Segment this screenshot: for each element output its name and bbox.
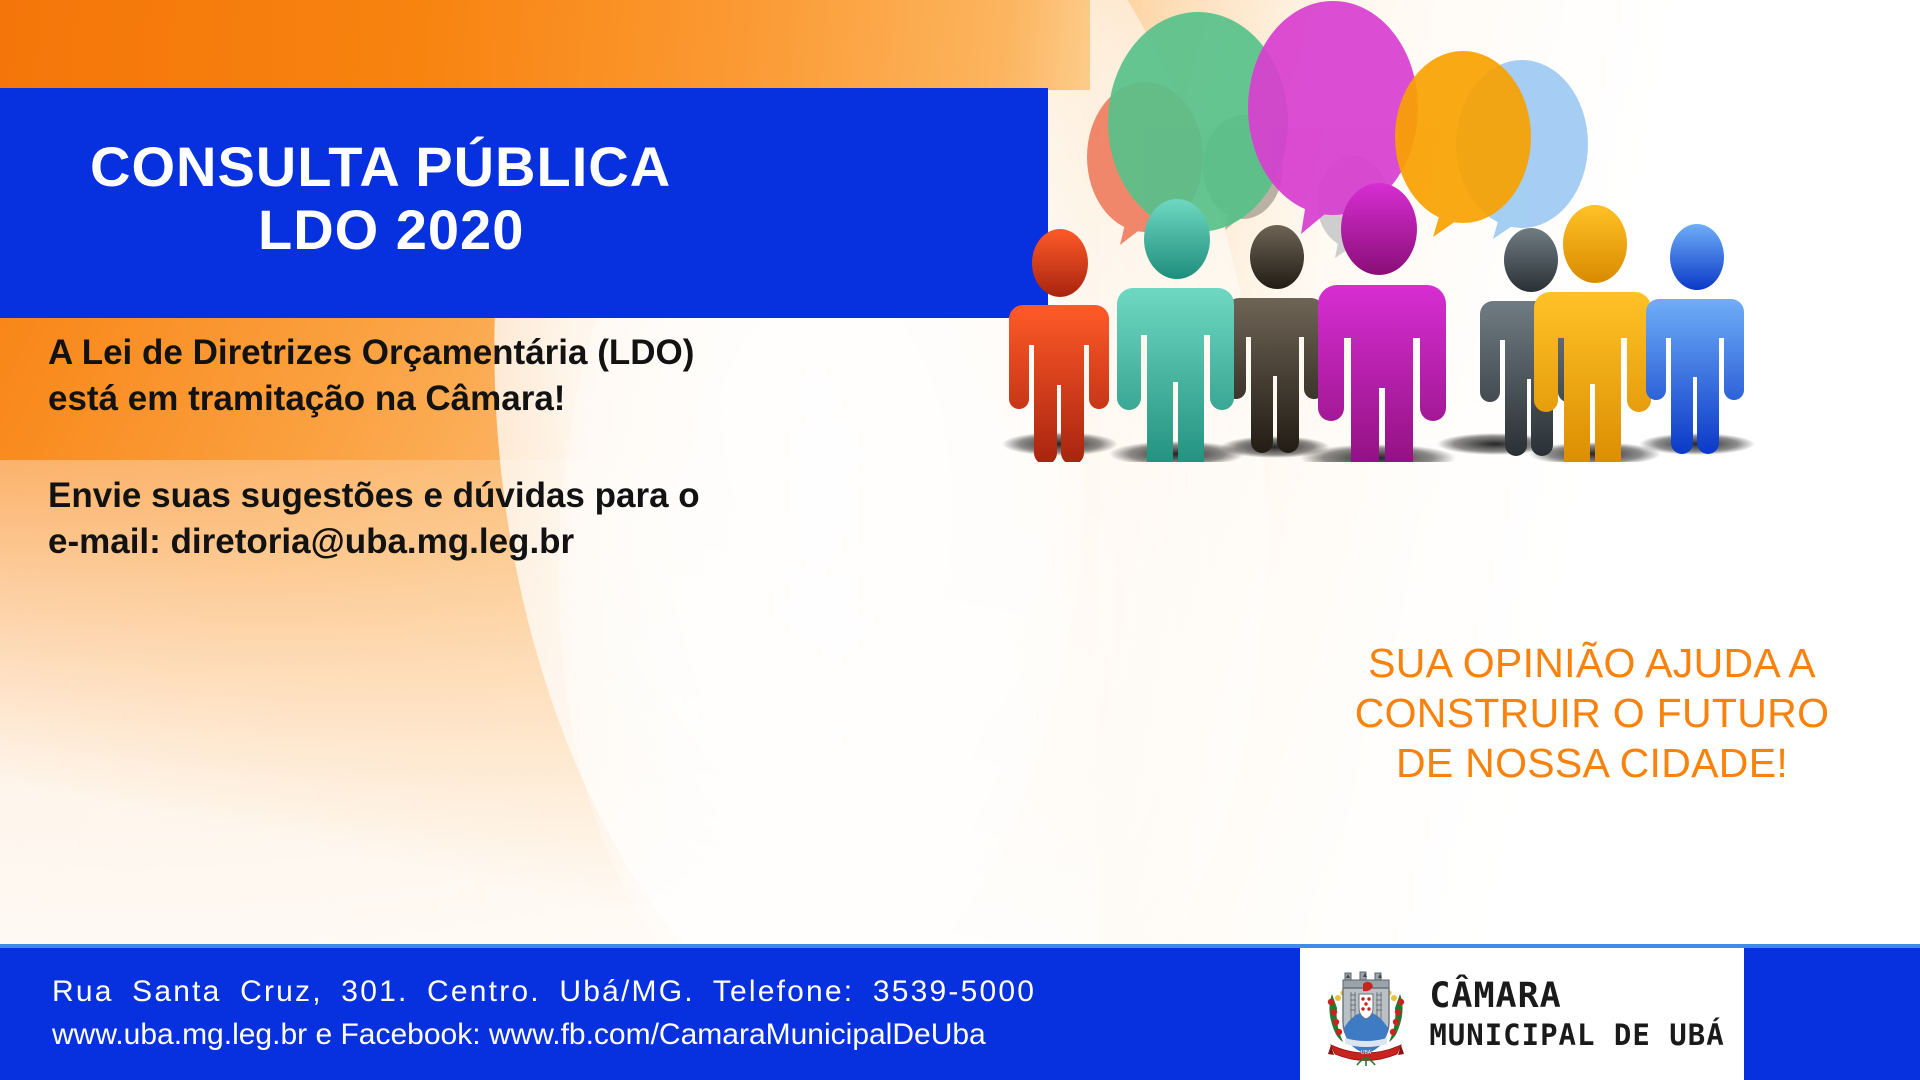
body-paragraph-1: A Lei de Diretrizes Orçamentária (LDO) e… <box>48 330 948 421</box>
person-teal-icon <box>1117 199 1234 462</box>
body-paragraph-1-line-1: A Lei de Diretrizes Orçamentária (LDO) <box>48 330 948 376</box>
footer-logo-wordmark: CÂMARA MUNICIPAL DE UBÁ <box>1429 979 1724 1050</box>
body-paragraph-2: Envie suas sugestões e dúvidas para o e-… <box>48 473 948 564</box>
body-paragraph-1-line-2: está em tramitação na Câmara! <box>48 376 948 422</box>
footer-logo-word-1: CÂMARA <box>1429 979 1724 1014</box>
body-paragraph-2-line-1: Envie suas sugestões e dúvidas para o <box>48 473 948 519</box>
person-grey-icon <box>1480 228 1578 456</box>
footer-bar: Rua Santa Cruz, 301. Centro. Ubá/MG. Tel… <box>0 944 1920 1080</box>
headline-line-2: LDO 2020 <box>90 199 988 262</box>
slogan-line-1: SUA OPINIÃO AJUDA A <box>1312 638 1872 688</box>
coat-of-arms-icon: UBÁ <box>1319 962 1413 1066</box>
svg-text:UBÁ: UBÁ <box>1361 1049 1372 1056</box>
footer-address-line: Rua Santa Cruz, 301. Centro. Ubá/MG. Tel… <box>52 971 1300 1014</box>
body-paragraph-2-line-2: e-mail: diretoria@uba.mg.leg.br <box>48 519 948 565</box>
poster-canvas: CONSULTA PÚBLICA LDO 2020 A Lei de Diret… <box>0 0 1920 1080</box>
background-top-orange-stripe <box>0 0 1090 90</box>
crowd-with-speech-bubbles-illustration <box>955 0 1920 462</box>
person-blue-icon <box>1646 224 1744 454</box>
slogan-line-3: DE NOSSA CIDADE! <box>1312 738 1872 788</box>
footer-web-line: www.uba.mg.leg.br e Facebook: www.fb.com… <box>52 1014 1300 1057</box>
slogan-line-2: CONSTRUIR O FUTURO <box>1312 688 1872 738</box>
footer-blue-tail <box>1744 948 1920 1080</box>
ground-shadow <box>1002 432 1118 456</box>
footer-contact-block: Rua Santa Cruz, 301. Centro. Ubá/MG. Tel… <box>0 948 1300 1080</box>
slogan-text: SUA OPINIÃO AJUDA A CONSTRUIR O FUTURO D… <box>1312 638 1872 788</box>
headline-banner: CONSULTA PÚBLICA LDO 2020 <box>0 88 1048 318</box>
person-red-icon <box>1009 229 1109 462</box>
body-copy: A Lei de Diretrizes Orçamentária (LDO) e… <box>48 330 948 564</box>
footer-logo-panel: UBÁ CÂMARA MUNICIPAL DE UBÁ <box>1300 948 1744 1080</box>
headline-line-1: CONSULTA PÚBLICA <box>90 136 988 199</box>
person-darkbrown-icon <box>1226 225 1324 453</box>
footer-logo-word-2: MUNICIPAL DE UBÁ <box>1429 1021 1724 1050</box>
